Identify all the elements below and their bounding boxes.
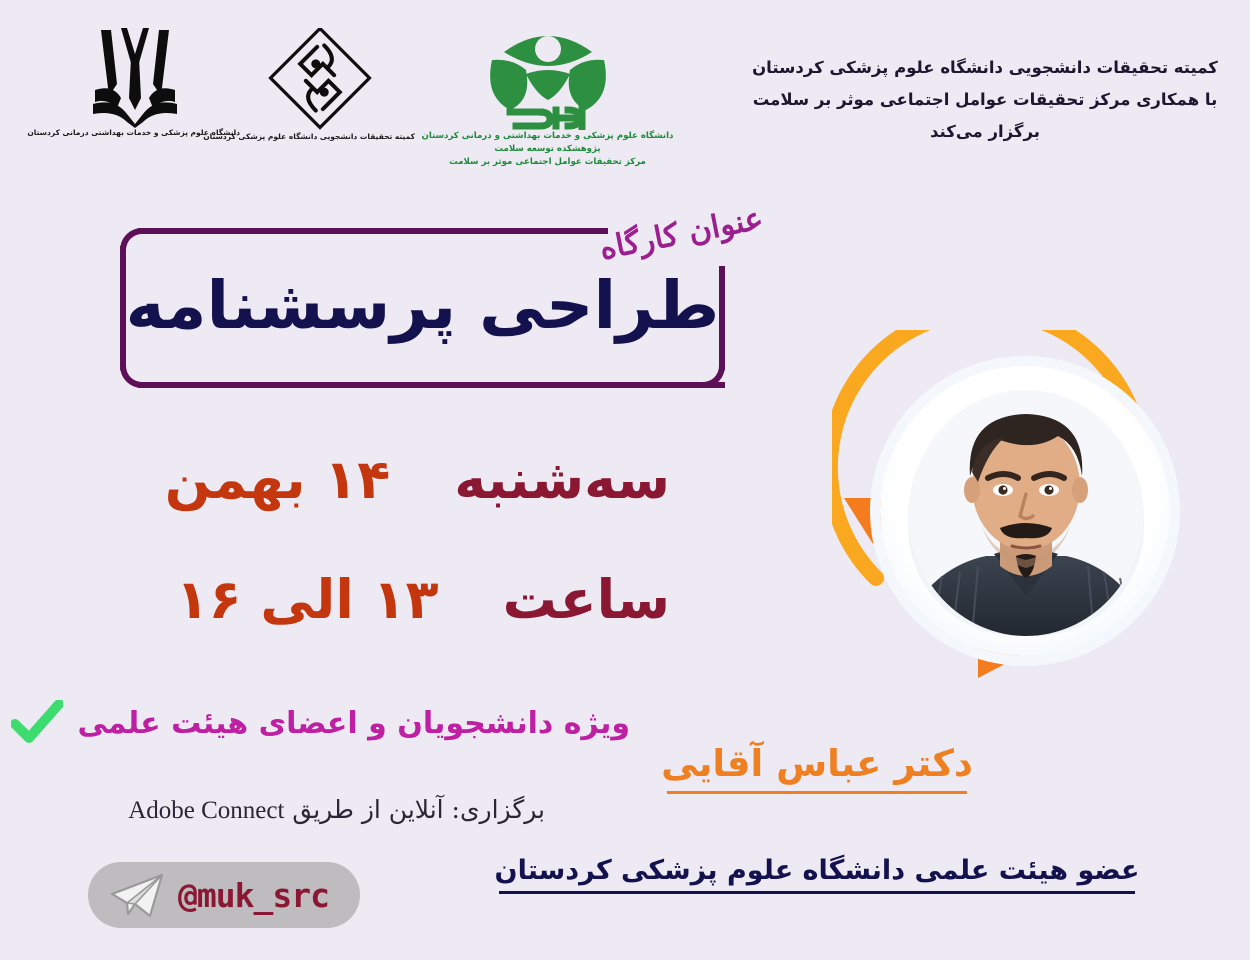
- student-research-committee-logo: کمیته تحقیقات دانشجویی دانشگاه علوم پزشک…: [225, 28, 415, 143]
- sdh-eye-leaves-icon: [482, 22, 614, 130]
- workshop-title-box: طراحی پرسشنامه: [120, 228, 725, 388]
- platform-name: Adobe Connect: [128, 797, 284, 824]
- audience-text: ویژه دانشجویان و اعضای هیئت علمی: [77, 706, 630, 741]
- organizer-line-3: برگزار می‌کند: [750, 116, 1220, 148]
- muk-emblem-icon: [87, 24, 183, 128]
- check-icon: [11, 700, 63, 746]
- audience-row: ویژه دانشجویان و اعضای هیئت علمی: [11, 700, 630, 746]
- organizer-statement: کمیته تحقیقات دانشجویی دانشگاه علوم پزشک…: [750, 52, 1220, 149]
- time-label: ساعت: [503, 568, 670, 631]
- platform-prefix: برگزاری: آنلاین از طریق: [292, 795, 545, 824]
- organizer-line-2: با همکاری مرکز تحقیقات عوامل اجتماعی موث…: [750, 84, 1220, 116]
- workshop-title: طراحی پرسشنامه: [120, 228, 725, 388]
- university-logo: دانشگاه علوم پزشکی و خدمات بهداشتی درمان…: [30, 24, 240, 139]
- telegram-handle: @muk_src: [178, 876, 329, 915]
- telegram-paper-plane-icon: [108, 870, 166, 920]
- platform-line: برگزاری: آنلاین از طریق Adobe Connect: [128, 795, 545, 825]
- logo-row: دانشگاه علوم پزشکی و خدمات بهداشتی درمان…: [20, 18, 680, 183]
- telegram-badge[interactable]: @muk_src: [88, 862, 360, 928]
- sdh-center-logo-caption: دانشگاه علوم پزشکی و خدمات بهداشتی و درم…: [415, 130, 680, 169]
- workshop-poster: دانشگاه علوم پزشکی و خدمات بهداشتی درمان…: [0, 0, 1250, 960]
- student-research-committee-logo-caption: کمیته تحقیقات دانشجویی دانشگاه علوم پزشک…: [225, 132, 415, 143]
- date-line: سه‌شنبه ۱۴ بهمن: [165, 448, 670, 511]
- src-diamond-icon: [266, 28, 374, 132]
- speaker-affiliation: عضو هیئت علمی دانشگاه علوم پزشکی کردستان: [495, 855, 1140, 894]
- speaker-name-wrap: دکتر عباس آقایی: [0, 742, 1250, 794]
- time-value: ۱۳ الی ۱۶: [176, 568, 439, 631]
- speaker-portrait: [832, 330, 1200, 698]
- sdh-center-logo: دانشگاه علوم پزشکی و خدمات بهداشتی و درم…: [415, 22, 680, 169]
- portrait-photo: [908, 390, 1144, 636]
- date-value: ۱۴ بهمن: [165, 448, 390, 511]
- time-line: ساعت ۱۳ الی ۱۶: [176, 568, 670, 631]
- date-label: سه‌شنبه: [454, 448, 670, 511]
- speaker-name: دکتر عباس آقایی: [661, 742, 973, 794]
- organizer-line-1: کمیته تحقیقات دانشجویی دانشگاه علوم پزشک…: [750, 52, 1220, 84]
